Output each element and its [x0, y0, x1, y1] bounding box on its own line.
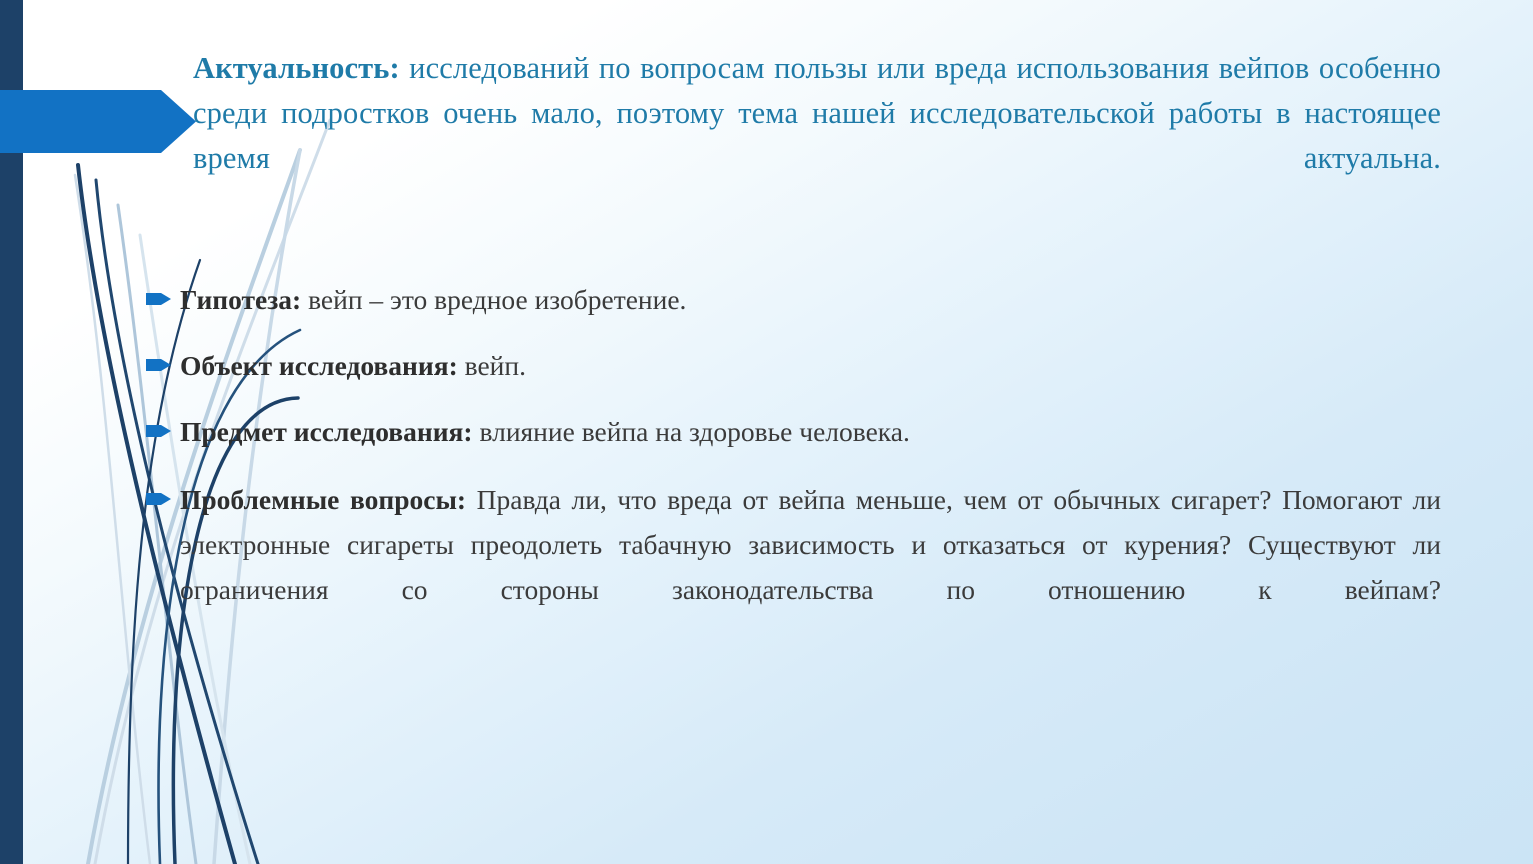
list-item-lead: Проблемные вопросы: — [180, 484, 466, 515]
presentation-slide: Актуальность: исследований по вопросам п… — [0, 0, 1533, 864]
arrow-bullet-icon — [146, 356, 171, 374]
list-item: Гипотеза: вейп – это вредное изобретение… — [146, 277, 1441, 322]
list-item: Предмет исследования: влияние вейпа на з… — [146, 409, 1441, 454]
arrow-bullet-icon — [146, 290, 171, 308]
list-item-lead: Объект исследования: — [180, 350, 458, 381]
list-item-rest: вейп – это вредное изобретение. — [301, 284, 686, 315]
heading-lead-label: Актуальность: — [193, 51, 400, 85]
slide-heading: Актуальность: исследований по вопросам п… — [193, 46, 1441, 226]
bullet-list: Гипотеза: вейп – это вредное изобретение… — [146, 277, 1441, 657]
list-item-text: Объект исследования: вейп. — [180, 350, 526, 381]
list-item-lead: Предмет исследования: — [180, 416, 473, 447]
arrow-bullet-icon — [146, 422, 171, 440]
list-item-rest: вейп. — [458, 350, 526, 381]
list-item: Проблемные вопросы: Правда ли, что вреда… — [146, 477, 1441, 657]
list-item: Объект исследования: вейп. — [146, 343, 1441, 388]
list-item-text: Предмет исследования: влияние вейпа на з… — [180, 416, 910, 447]
list-item-text: Гипотеза: вейп – это вредное изобретение… — [180, 284, 686, 315]
list-item-text: Проблемные вопросы: Правда ли, что вреда… — [180, 484, 1441, 650]
list-item-lead: Гипотеза: — [180, 284, 301, 315]
list-item-rest: влияние вейпа на здоровье человека. — [473, 416, 910, 447]
arrow-bullet-icon — [146, 490, 171, 508]
